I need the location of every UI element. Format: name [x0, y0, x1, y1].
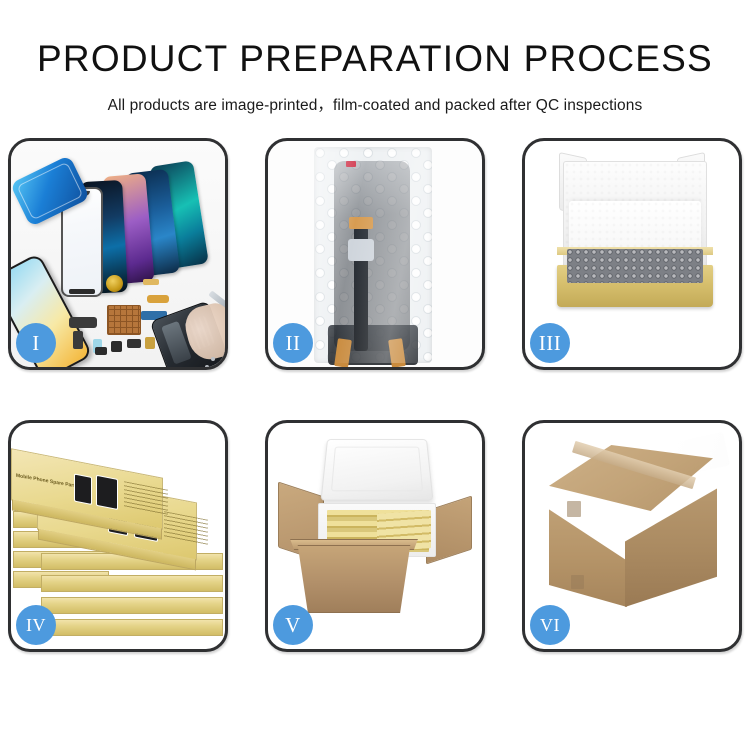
box-layer — [41, 619, 223, 636]
box-layer — [41, 575, 223, 592]
process-step-panel-4: Mobile Phone Spare Parts Mobile Phone Sp… — [8, 420, 228, 652]
gold-strip-icon — [143, 279, 159, 285]
step-badge-1: I — [16, 323, 56, 363]
grey-bubble-contents-icon — [567, 249, 703, 283]
step-badge-6: VI — [530, 605, 570, 645]
carton-left-face-icon — [549, 485, 627, 607]
button-part-icon — [95, 347, 107, 355]
qc-red-mark-icon — [346, 161, 356, 167]
step-badge-3: III — [530, 323, 570, 363]
box-layer — [41, 597, 223, 614]
box-phone-image-icon — [74, 473, 92, 504]
gold-connector-icon — [147, 295, 169, 303]
speaker-bar-icon — [69, 289, 95, 294]
gold-chip-icon — [145, 337, 155, 349]
process-step-panel-6: VI — [522, 420, 742, 652]
process-step-panel-2: II — [265, 138, 485, 370]
process-step-panel-5: V — [265, 420, 485, 652]
carton-front-face-icon — [290, 545, 418, 613]
bubble-wrap-bag-icon — [314, 147, 432, 363]
ic-chip-icon — [127, 339, 141, 348]
lcd-connector-icon — [348, 239, 374, 261]
header: PRODUCT PREPARATION PROCESS All products… — [0, 0, 750, 115]
step-badge-2: II — [273, 323, 313, 363]
copper-coil-icon — [106, 275, 123, 292]
camera-module-icon — [111, 341, 122, 352]
chip-grid-icon — [107, 305, 141, 335]
kraft-tray-icon — [557, 265, 713, 307]
process-steps-grid: I II — [8, 138, 742, 688]
process-step-panel-3: III — [522, 138, 742, 370]
orange-tape-icon — [349, 217, 373, 229]
screw-icon — [211, 357, 215, 361]
screw-icon — [205, 365, 209, 367]
step-badge-5: V — [273, 605, 313, 645]
flex-cable-icon — [69, 317, 97, 328]
process-step-panel-1: I — [8, 138, 228, 370]
tape-tab-icon — [571, 575, 584, 589]
flex-cable-small-icon — [73, 331, 83, 349]
page-title: PRODUCT PREPARATION PROCESS — [0, 40, 750, 77]
foam-lid-icon — [321, 439, 434, 500]
page-subtitle: All products are image-printed，film-coat… — [0, 93, 750, 115]
step-badge-4: IV — [16, 605, 56, 645]
box-phone-image-icon — [96, 475, 118, 510]
product-preparation-infographic: PRODUCT PREPARATION PROCESS All products… — [0, 0, 750, 750]
screw-icon — [219, 363, 223, 367]
tape-tab-icon — [567, 501, 581, 517]
